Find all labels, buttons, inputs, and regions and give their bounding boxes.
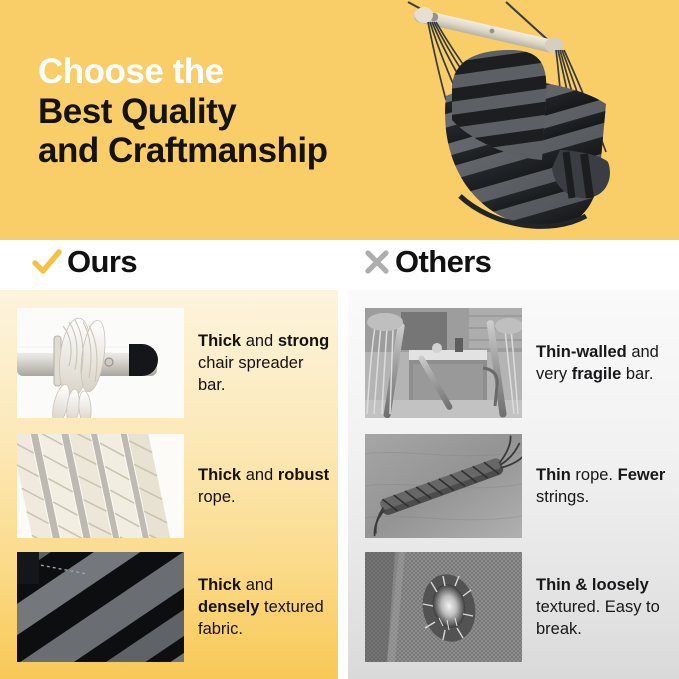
comparison-row-ours-3: Thick and densely textured fabric. [0,548,338,666]
column-header-ours: Ours [30,244,137,280]
panel-ours: Thick and strong chair spreader bar. [0,290,338,679]
comparison-row-ours-1: Thick and strong chair spreader bar. [0,304,338,422]
caption-ours-3: Thick and densely textured fabric. [184,574,338,640]
caption-ours-2: Thick and robust rope. [184,464,338,508]
column-header-others: Others [362,244,491,280]
cross-icon [362,247,392,277]
thumbnail-ours-rope [17,434,184,538]
hero-hammock-chair-image [400,0,679,240]
column-header-strip: Ours Others [0,240,679,290]
page-title: Choose the Best Quality and Craftmanship [38,52,328,171]
caption-ours-1: Thick and strong chair spreader bar. [184,330,338,396]
comparison-row-others-3: Thin & loosely textured. Easy to break. [348,548,679,666]
thumbnail-others-thin-rope [365,434,522,538]
thumbnail-others-thin-bar [365,308,522,418]
panel-others: Thin-walled and very fragile bar. [348,290,679,679]
thumbnail-others-torn-fabric [365,552,522,662]
column-label-ours: Ours [67,244,137,280]
comparison-row-ours-2: Thick and robust rope. [0,430,338,542]
comparison-row-others-1: Thin-walled and very fragile bar. [348,304,679,422]
caption-others-1: Thin-walled and very fragile bar. [522,341,679,385]
comparison-row-others-2: Thin rope. Fewer strings. [348,430,679,542]
headline-line-1: Choose the [38,52,328,92]
check-icon [30,245,64,279]
caption-others-2: Thin rope. Fewer strings. [522,464,679,508]
headline-line-3: and Craftmanship [38,131,328,171]
caption-others-3: Thin & loosely textured. Easy to break. [522,574,679,640]
headline-line-2: Best Quality [38,92,328,132]
thumbnail-ours-spreader-bar [17,308,184,418]
thumbnail-ours-fabric [17,552,184,662]
column-label-others: Others [395,244,491,280]
header-banner: Choose the Best Quality and Craftmanship [0,0,679,240]
